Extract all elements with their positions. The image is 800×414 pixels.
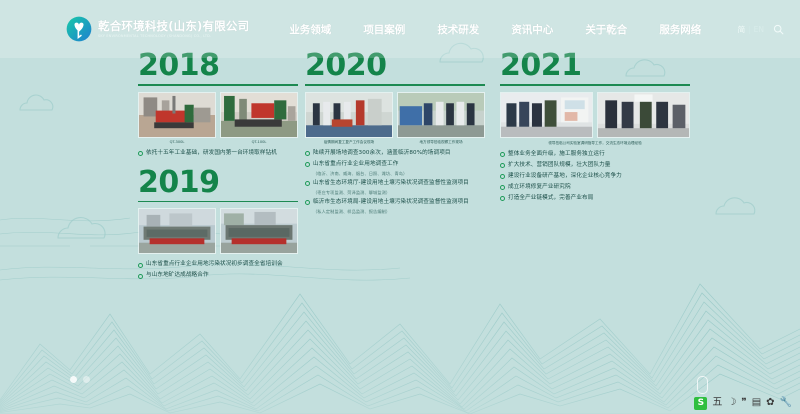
timeline-entry-2020: 2020 疫情期间复工复产工作: [305, 50, 485, 215]
photo-item[interactable]: 地方领导莅临视察工作现场: [397, 92, 485, 145]
photo-drill-rig-qt300l: [138, 92, 216, 138]
photo-row-2018: QT-300L QT-100L: [138, 92, 298, 145]
nav-item-service-network[interactable]: 服务网络: [659, 22, 701, 37]
bullet-dot-icon: [138, 151, 143, 156]
photo-group-training-2: [220, 208, 298, 254]
photo-meeting-outdoor-2: [397, 92, 485, 138]
bullet-text: 成立环境修复产业研究院: [508, 183, 571, 191]
bullet-item: 依托十五年工业基础，研发国内第一台环境取样钻机: [138, 149, 298, 157]
bullet-dot-icon: [500, 196, 505, 201]
photo-item[interactable]: [500, 92, 593, 140]
timeline-entry-2018: 2018 QT-300L: [138, 50, 298, 157]
timeline-column-left: 2018 QT-300L: [138, 50, 298, 282]
bullet-item: 成立环境修复产业研究院: [500, 183, 690, 191]
bullet-text: 山东省重点行业企业用地调查工作: [313, 160, 398, 168]
nav-item-business[interactable]: 业务领域: [289, 22, 331, 37]
photo-caption: 地方领导莅临视察工作现场: [397, 140, 485, 145]
year-divider: [138, 84, 298, 86]
pagination-dot-2[interactable]: [83, 376, 90, 383]
logo-name-en: SKY ENVIRONMENTAL TECHNOLOGY (SHANDONG) …: [98, 33, 249, 39]
bullet-dot-icon: [305, 200, 310, 205]
photo-item[interactable]: [597, 92, 690, 140]
photo-lab-visit-1: [500, 92, 593, 138]
quote-icon[interactable]: ❞: [741, 398, 746, 408]
text-cursor-indicator: [697, 376, 708, 394]
photo-item[interactable]: 疫情期间复工复产工作会议现场: [305, 92, 393, 145]
lang-switch-cn[interactable]: 简: [738, 24, 746, 35]
pagination-dot-1[interactable]: [70, 376, 77, 383]
header-utilities: 简 | EN: [738, 24, 784, 35]
nav-item-news[interactable]: 资讯中心: [511, 22, 553, 37]
photo-item[interactable]: QT-100L: [220, 92, 298, 145]
bullet-text: 与山东地矿达成战略合作: [146, 271, 209, 279]
sogou-logo-icon[interactable]: S: [694, 397, 707, 410]
bullet-list-2019: 山东省重点行业企业用地污染状况初步调查全省培训会 与山东地矿达成战略合作: [138, 260, 298, 279]
wubi-mode-icon[interactable]: 五: [712, 398, 722, 408]
photo-row-2021: [500, 92, 690, 140]
keyboard-icon[interactable]: ▤: [752, 398, 761, 408]
tools-icon[interactable]: 🔧: [780, 398, 792, 408]
sogou-ime-toolbar: S 五 ☽ ❞ ▤ ✿ 🔧: [690, 394, 796, 412]
site-logo[interactable]: 乾合环境科技(山东)有限公司 SKY ENVIRONMENTAL TECHNOL…: [66, 16, 249, 42]
bullet-dot-icon: [500, 163, 505, 168]
lang-separator: |: [748, 25, 751, 34]
photo-group-training-1: [138, 208, 216, 254]
logo-name-cn: 乾合环境科技(山东)有限公司: [98, 20, 249, 33]
bullet-dot-icon: [138, 263, 143, 268]
bullet-item: 扩大技术、营销团队规模，壮大团队力量: [500, 161, 690, 169]
bullet-dot-icon: [305, 181, 310, 186]
photo-item[interactable]: [138, 208, 216, 256]
bullet-item: 整体业务全面升级，施工服务独立运行: [500, 150, 690, 158]
bullet-list-2018: 依托十五年工业基础，研发国内第一台环境取样钻机: [138, 149, 298, 157]
bullet-dot-icon: [305, 162, 310, 167]
logo-text: 乾合环境科技(山东)有限公司 SKY ENVIRONMENTAL TECHNOL…: [98, 20, 249, 39]
photo-row-caption-2021: 领导莅临公司实验室调研指导工作，交流生态环境治理经验: [500, 141, 690, 146]
moon-icon[interactable]: ☽: [727, 398, 736, 408]
bullet-text: 山东省重点行业企业用地污染状况初步调查全省培训会: [146, 260, 283, 268]
nav-item-projects[interactable]: 项目案例: [363, 22, 405, 37]
bullet-item: 建设行业设备研产基地，深化企业核心竞争力: [500, 172, 690, 180]
bullet-text: 整体业务全面升级，施工服务独立运行: [508, 150, 605, 158]
photo-row-2019: [138, 208, 298, 256]
photo-item[interactable]: QT-300L: [138, 92, 216, 145]
bullet-subtext: （私人定制监测、样品监测、报告编制）: [313, 208, 485, 215]
bullet-item: 山东省生态环境厅-建设用地土壤污染状况调查监督性监测项目: [305, 179, 485, 187]
bullet-subtext: （枣庄专项监测、菏泽监测、聊城监测）: [313, 189, 485, 196]
bullet-item: 与山东地矿达成战略合作: [138, 271, 298, 279]
year-divider: [138, 201, 298, 203]
bullet-text: 山东省生态环境厅-建设用地土壤污染状况调查监督性监测项目: [313, 179, 469, 187]
photo-caption: QT-100L: [220, 140, 298, 145]
bullet-item: 山东省重点行业企业用地污染状况初步调查全省培训会: [138, 260, 298, 268]
nav-item-technology[interactable]: 技术研发: [437, 22, 479, 37]
bullet-dot-icon: [138, 274, 143, 279]
bullet-item: 山东省重点行业企业用地调查工作: [305, 160, 485, 168]
bullet-text: 临沂市生态环境局-建设用地土壤污染状况调查监督性监测项目: [313, 198, 469, 206]
timeline-entry-2019: 2019: [138, 167, 298, 280]
bullet-text: 依托十五年工业基础，研发国内第一台环境取样钻机: [146, 149, 277, 157]
bullet-dot-icon: [500, 185, 505, 190]
timeline-column-right: 2021: [500, 50, 690, 205]
bullet-text: 打造全产业链模式，完善产业布局: [508, 194, 593, 202]
timeline-column-middle: 2020 疫情期间复工复产工作: [305, 50, 485, 217]
bullet-item: 打造全产业链模式，完善产业布局: [500, 194, 690, 202]
skin-icon[interactable]: ✿: [766, 398, 774, 408]
main-navigation: 业务领域 项目案例 技术研发 资讯中心 关于乾合 服务网络: [273, 22, 717, 37]
bullet-text: 建设行业设备研产基地，深化企业核心竞争力: [508, 172, 622, 180]
bullet-subtext: （临沂、济南、威海、烟台、日照、潍坊、青岛）: [313, 170, 485, 177]
photo-row-2020: 疫情期间复工复产工作会议现场 地方领导莅临视察工作现场: [305, 92, 485, 145]
bullet-dot-icon: [500, 152, 505, 157]
photo-drill-rig-qt100l: [220, 92, 298, 138]
nav-item-about[interactable]: 关于乾合: [585, 22, 627, 37]
bullet-dot-icon: [500, 174, 505, 179]
photo-item[interactable]: [220, 208, 298, 256]
bullet-text: 扩大技术、营销团队规模，壮大团队力量: [508, 161, 611, 169]
photo-caption: 疫情期间复工复产工作会议现场: [305, 140, 393, 145]
photo-meeting-outdoor-1: [305, 92, 393, 138]
bullet-list-2021: 整体业务全面升级，施工服务独立运行 扩大技术、营销团队规模，壮大团队力量 建设行…: [500, 150, 690, 202]
year-divider: [500, 84, 690, 86]
bullet-item: 陆续开展场地调查300余次，涵盖临沂80%的场调项目: [305, 149, 485, 157]
timeline-entry-2021: 2021: [500, 50, 690, 202]
year-heading-2019: 2019: [138, 167, 298, 199]
timeline-content: 2018 QT-300L: [0, 50, 800, 350]
bullet-text: 陆续开展场地调查300余次，涵盖临沂80%的场调项目: [313, 149, 451, 157]
photo-lab-visit-2: [597, 92, 690, 138]
bullet-list-2020: 陆续开展场地调查300余次，涵盖临沂80%的场调项目 山东省重点行业企业用地调查…: [305, 149, 485, 215]
logo-mark-icon: [66, 16, 92, 42]
site-header: 乾合环境科技(山东)有限公司 SKY ENVIRONMENTAL TECHNOL…: [0, 0, 800, 58]
bullet-dot-icon: [305, 151, 310, 156]
search-icon[interactable]: [773, 24, 784, 35]
photo-caption: QT-300L: [138, 140, 216, 145]
bullet-item: 临沂市生态环境局-建设用地土壤污染状况调查监督性监测项目: [305, 198, 485, 206]
lang-switch-en[interactable]: EN: [754, 25, 764, 34]
year-divider: [305, 84, 485, 86]
slider-pagination: [70, 376, 90, 383]
